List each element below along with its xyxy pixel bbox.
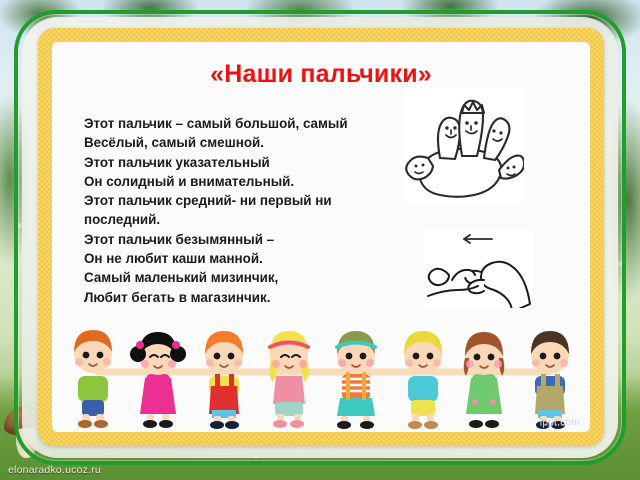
poem-line: Самый маленький мизинчик, — [84, 268, 394, 287]
poem-line: Любит бегать в магазинчик. — [84, 288, 394, 307]
poem-text-block: Этот пальчик – самый большой, самый Весё… — [84, 114, 394, 307]
child-figure — [269, 331, 308, 428]
child-figure — [337, 331, 375, 429]
child-figure — [130, 332, 186, 428]
poem-line: Этот пальчик указательный — [84, 153, 394, 172]
page-title: «Наши пальчики» — [52, 60, 590, 89]
child-figure — [205, 331, 243, 429]
pinching-hand-illustration — [424, 230, 534, 308]
child-figure — [464, 332, 505, 428]
poem-line: Этот пальчик средний- ни первый ни — [84, 191, 394, 210]
poem-line: Этот пальчик – самый большой, самый — [84, 114, 394, 133]
child-figure — [74, 330, 112, 428]
child-figure — [531, 331, 569, 429]
poem-line: Он не любит каши манной. — [84, 249, 394, 268]
slide-canvas: «Наши пальчики» Этот пальчик – самый бол… — [0, 0, 640, 480]
open-hand-illustration — [404, 88, 524, 204]
children-holding-hands-icon — [52, 314, 590, 432]
poem-line: Он солидный и внимательный. — [84, 172, 394, 191]
site-watermark: elonaradko.ucoz.ru — [8, 464, 101, 476]
poem-line: последний. — [84, 210, 394, 229]
poem-line: Этот пальчик безымянный – — [84, 230, 394, 249]
poem-line: Весёлый, самый смешной. — [84, 133, 394, 152]
open-hand-with-faces-icon — [404, 88, 524, 204]
ppt-watermark: lppt.com — [540, 417, 580, 428]
content-card: «Наши пальчики» Этот пальчик – самый бол… — [52, 42, 590, 432]
children-illustration-row — [52, 314, 590, 432]
left-arrow-icon — [464, 235, 492, 243]
child-figure — [404, 331, 442, 429]
pinching-hands-with-arrow-icon — [424, 230, 534, 308]
